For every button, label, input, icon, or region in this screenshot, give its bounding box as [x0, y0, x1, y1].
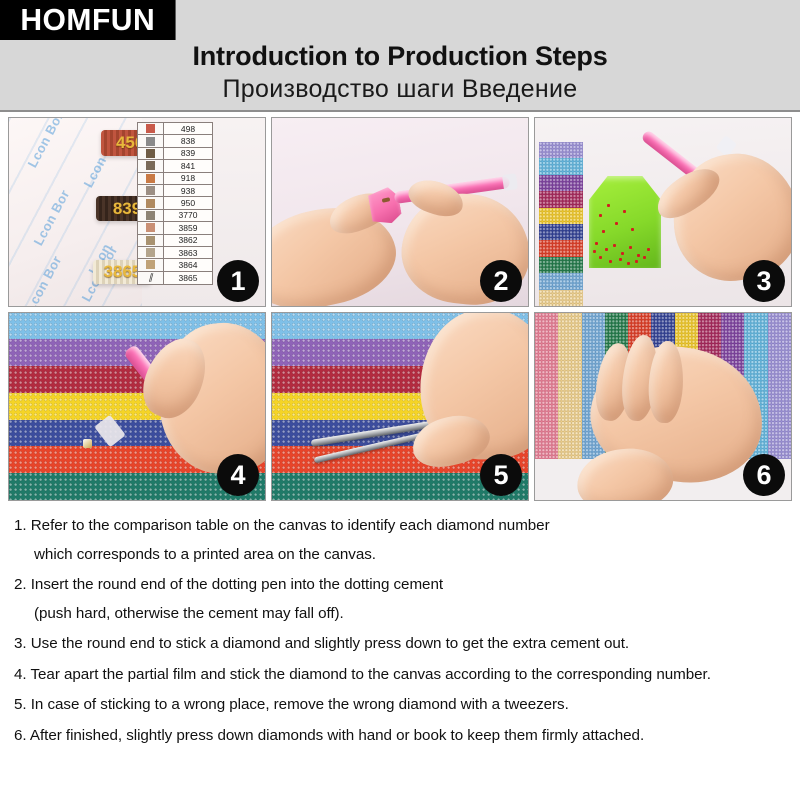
instruction-item: 2. Insert the round end of the dotting p… — [14, 571, 794, 628]
instruction-line: 6. After finished, slightly press down d… — [14, 722, 794, 751]
step-panel-1: Lcon Bor Lcon Bor Lcon Bor Lcon Bor Lcon… — [8, 117, 266, 307]
instruction-line: 2. Insert the round end of the dotting p… — [14, 571, 794, 600]
chart-number: 3770 — [164, 210, 212, 221]
chart-row: 841 — [138, 160, 212, 172]
instruction-line: which corresponds to a printed area on t… — [14, 541, 794, 570]
instruction-line: (push hard, otherwise the cement may fal… — [14, 600, 794, 629]
chart-row: 918 — [138, 173, 212, 185]
chart-number: 3865 — [164, 272, 212, 284]
step-panel-6: 6 — [534, 312, 792, 502]
chart-number: 918 — [164, 173, 212, 184]
step-badge-5: 5 — [480, 454, 522, 496]
page-subtitle: Производство шаги Введение — [0, 75, 800, 104]
chart-symbol — [138, 235, 164, 246]
instruction-line: 3. Use the round end to stick a diamond … — [14, 630, 794, 659]
chart-row: 3862 — [138, 235, 212, 247]
chart-number: 3862 — [164, 235, 212, 246]
instruction-text: After finished, slightly press down diam… — [30, 727, 644, 744]
step-badge-6: 6 — [743, 454, 785, 496]
pen-cap — [502, 173, 518, 191]
chart-symbol — [138, 173, 164, 184]
diamond-bead — [83, 439, 92, 448]
instruction-item: 3. Use the round end to stick a diamond … — [14, 630, 794, 659]
step-badge-3: 3 — [743, 260, 785, 302]
chart-row: 3859 — [138, 222, 212, 234]
chart-number: 3863 — [164, 247, 212, 258]
chart-number: 3864 — [164, 259, 212, 270]
step-panel-2: 2 — [271, 117, 529, 307]
chart-number: 839 — [164, 148, 212, 159]
step-panel-4: 4 — [8, 312, 266, 502]
instruction-item: 5. In case of sticking to a wrong place,… — [14, 691, 794, 720]
chart-number: 838 — [164, 135, 212, 146]
instruction-text: Tear apart the partial film and stick th… — [30, 666, 710, 683]
instruction-item: 4. Tear apart the partial film and stick… — [14, 661, 794, 690]
chart-row: 938 — [138, 185, 212, 197]
chart-symbol — [138, 135, 164, 146]
step-badge-4: 4 — [217, 454, 259, 496]
chart-symbol — [138, 222, 164, 233]
step-panel-3: 3 — [534, 117, 792, 307]
instruction-number: 2. — [14, 576, 27, 593]
instruction-number: 6. — [14, 727, 27, 744]
diamond-bag-label: 3865 — [104, 262, 142, 282]
chart-row: 3864 — [138, 259, 212, 271]
instruction-number: 3. — [14, 635, 27, 652]
chart-row: 3863 — [138, 247, 212, 259]
striped-canvas — [539, 142, 583, 306]
instruction-text: Use the round end to stick a diamond and… — [31, 635, 629, 652]
chart-number: 950 — [164, 197, 212, 208]
instruction-line: 1. Refer to the comparison table on the … — [14, 512, 794, 541]
brand-logo: HOMFUN — [0, 0, 176, 40]
chart-symbol — [138, 123, 164, 134]
chart-symbol: ∥ — [138, 272, 164, 284]
chart-row: 3770 — [138, 210, 212, 222]
instruction-line: 5. In case of sticking to a wrong place,… — [14, 691, 794, 720]
chart-symbol — [138, 197, 164, 208]
chart-row: 498 — [138, 123, 212, 135]
color-comparison-chart: 498 838 839 841 918 — [137, 122, 213, 285]
chart-number: 498 — [164, 123, 212, 134]
instruction-number: 1. — [14, 517, 27, 534]
chart-number: 841 — [164, 160, 212, 171]
chart-row: 950 — [138, 197, 212, 209]
chart-symbol — [138, 210, 164, 221]
chart-symbol — [138, 185, 164, 196]
step-badge-1: 1 — [217, 260, 259, 302]
chart-symbol — [138, 247, 164, 258]
instruction-text: In case of sticking to a wrong place, re… — [31, 696, 569, 713]
instruction-number: 4. — [14, 666, 27, 683]
chart-number: 3859 — [164, 222, 212, 233]
step-badge-2: 2 — [480, 260, 522, 302]
chart-row: ∥ 3865 — [138, 272, 212, 284]
step-panel-5: 5 — [271, 312, 529, 502]
instruction-text: Insert the round end of the dotting pen … — [31, 576, 443, 593]
chart-symbol — [138, 160, 164, 171]
instruction-list: 1. Refer to the comparison table on the … — [14, 512, 794, 752]
chart-symbol — [138, 259, 164, 270]
instruction-number: 5. — [14, 696, 27, 713]
instruction-text: Refer to the comparison table on the can… — [31, 517, 550, 534]
diamond-tray — [589, 176, 661, 268]
steps-grid: Lcon Bor Lcon Bor Lcon Bor Lcon Bor Lcon… — [8, 117, 792, 501]
chart-number: 938 — [164, 185, 212, 196]
chart-row: 838 — [138, 135, 212, 147]
page-title: Introduction to Production Steps — [0, 41, 800, 72]
page-header: HOMFUN Introduction to Production Steps … — [0, 0, 800, 112]
instruction-item: 6. After finished, slightly press down d… — [14, 722, 794, 751]
chart-symbol — [138, 148, 164, 159]
instruction-item: 1. Refer to the comparison table on the … — [14, 512, 794, 569]
instruction-line: 4. Tear apart the partial film and stick… — [14, 661, 794, 690]
chart-row: 839 — [138, 148, 212, 160]
